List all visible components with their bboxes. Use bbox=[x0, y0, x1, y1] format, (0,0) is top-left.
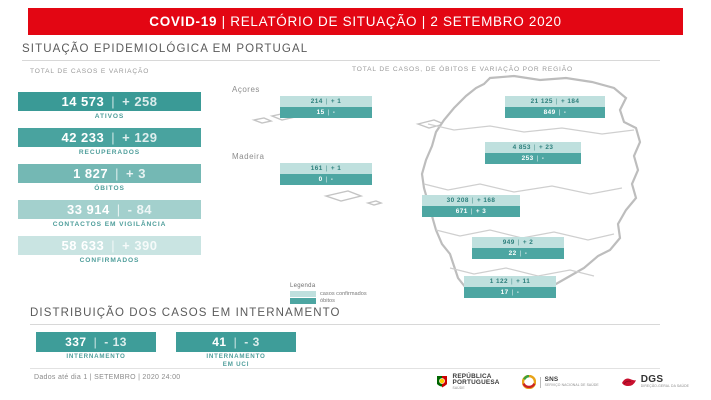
region-separator: | bbox=[517, 250, 525, 257]
region-box-centro: 4 853 | + 23 253 | - bbox=[485, 142, 581, 164]
stat-value-recuperados: 42 233 bbox=[61, 130, 104, 145]
region-cases-delta: + 168 bbox=[477, 197, 495, 204]
region-deaths-delta: + 3 bbox=[476, 208, 486, 215]
region-cases-value: 161 bbox=[311, 165, 323, 172]
region-cases-delta: + 1 bbox=[331, 165, 341, 172]
intern-label-line1: INTERNAMENTO bbox=[176, 353, 296, 361]
region-cases-norte: 21 125 | + 184 bbox=[505, 96, 605, 107]
republica-shield-icon bbox=[435, 375, 449, 389]
region-deaths-delta: - bbox=[331, 176, 334, 183]
region-cases-value: 214 bbox=[311, 98, 323, 105]
epidemiological-section-title: SITUAÇÃO EPIDEMIOLÓGICA EM PORTUGAL bbox=[22, 43, 308, 55]
region-deaths-delta: - bbox=[564, 109, 567, 116]
region-cases-delta: + 184 bbox=[561, 98, 579, 105]
region-deaths-value: 17 bbox=[501, 289, 509, 296]
region-deaths-acores: 15 | - bbox=[280, 107, 372, 118]
stat-separator: | bbox=[111, 238, 115, 253]
region-deaths-delta: - bbox=[333, 109, 336, 116]
region-box-acores: 214 | + 1 15 | - bbox=[280, 96, 372, 118]
legend-title: Legenda bbox=[290, 283, 367, 289]
internment-section-title: DISTRIBUIÇÃO DOS CASOS EM INTERNAMENTO bbox=[30, 307, 341, 319]
header-title: COVID-19 | RELATÓRIO DE SITUAÇÃO | 2 SET… bbox=[149, 14, 561, 29]
legend-swatch-cases-icon bbox=[290, 291, 316, 297]
intern-label-internamento: INTERNAMENTO bbox=[36, 353, 156, 361]
region-deaths-algarve: 17 | - bbox=[464, 287, 556, 298]
logo-republica-sub: SAÚDE bbox=[453, 387, 500, 390]
region-cases-value: 4 853 bbox=[513, 144, 531, 151]
region-cases-delta: + 11 bbox=[516, 278, 530, 285]
logo-sns: SNS SERVIÇO NACIONAL DE SAÚDE bbox=[522, 375, 599, 389]
region-separator: | bbox=[468, 208, 476, 215]
stat-separator: | bbox=[111, 94, 115, 109]
stat-value-ativos: 14 573 bbox=[61, 94, 104, 109]
intern-box-uci: 41 | - 3 bbox=[176, 332, 296, 352]
sns-divider bbox=[540, 377, 541, 388]
section-divider bbox=[30, 324, 660, 325]
header-separator-2: | bbox=[422, 14, 426, 29]
stat-label-recuperados: RECUPERADOS bbox=[18, 149, 201, 156]
report-label: RELATÓRIO DE SITUAÇÃO bbox=[230, 14, 417, 29]
region-deaths-centro: 253 | - bbox=[485, 153, 581, 164]
region-cases-acores: 214 | + 1 bbox=[280, 96, 372, 107]
region-deaths-madeira: 0 | - bbox=[280, 174, 372, 185]
region-deaths-value: 671 bbox=[456, 208, 468, 215]
region-cases-value: 30 208 bbox=[447, 197, 469, 204]
stat-box-contactos: 33 914 | - 84 bbox=[18, 200, 201, 219]
region-cases-lvt: 30 208 | + 168 bbox=[422, 195, 520, 206]
stat-box-obitos: 1 827 | + 3 bbox=[18, 164, 201, 183]
madeira-islands bbox=[326, 191, 381, 205]
stat-delta-ativos: + 258 bbox=[122, 94, 157, 109]
madeira-label: Madeira bbox=[232, 152, 264, 161]
stat-delta-confirmados: + 390 bbox=[122, 238, 157, 253]
region-separator: | bbox=[469, 197, 477, 204]
region-deaths-value: 253 bbox=[522, 155, 534, 162]
region-cases-algarve: 1 122 | + 11 bbox=[464, 276, 556, 287]
region-cases-madeira: 161 | + 1 bbox=[280, 163, 372, 174]
region-separator: | bbox=[508, 278, 516, 285]
region-cases-delta: + 1 bbox=[331, 98, 341, 105]
stat-label-obitos: ÓBITOS bbox=[18, 185, 201, 192]
region-box-algarve: 1 122 | + 11 17 | - bbox=[464, 276, 556, 298]
intern-box-internamento: 337 | - 13 bbox=[36, 332, 156, 352]
legend-row-cases: casos confirmados bbox=[290, 291, 367, 297]
region-deaths-delta: - bbox=[542, 155, 545, 162]
intern-label-uci: INTERNAMENTO EM UCI bbox=[176, 353, 296, 369]
region-deaths-norte: 849 | - bbox=[505, 107, 605, 118]
dgs-leaf-icon bbox=[621, 376, 637, 388]
legend-row-deaths: óbitos bbox=[290, 298, 367, 304]
region-separator: | bbox=[556, 109, 564, 116]
logo-dgs-sub: DIREÇÃO-GERAL DA SAÚDE bbox=[641, 385, 689, 388]
stat-value-obitos: 1 827 bbox=[73, 166, 108, 181]
stat-label-confirmados: CONFIRMADOS bbox=[18, 257, 201, 264]
intern-value-internamento: 337 bbox=[65, 335, 87, 349]
stat-separator: | bbox=[111, 130, 115, 145]
intern-separator: | bbox=[234, 335, 238, 349]
region-deaths-alentejo: 22 | - bbox=[472, 248, 564, 259]
header-separator-1: | bbox=[222, 14, 226, 29]
region-separator: | bbox=[323, 165, 331, 172]
report-date: 2 SETEMBRO 2020 bbox=[430, 14, 561, 29]
legend-label-deaths: óbitos bbox=[320, 298, 335, 304]
region-separator: | bbox=[323, 98, 331, 105]
logo-sns-sub: SERVIÇO NACIONAL DE SAÚDE bbox=[545, 384, 599, 387]
stat-delta-contactos: - 84 bbox=[128, 202, 152, 217]
region-cases-delta: + 23 bbox=[539, 144, 553, 151]
azores-label: Açores bbox=[232, 85, 260, 94]
portugal-map: Açores Madeira 214 | + 1 15 | - 161 | + … bbox=[222, 72, 692, 317]
region-cases-alentejo: 949 | + 2 bbox=[472, 237, 564, 248]
stat-delta-recuperados: + 129 bbox=[122, 130, 157, 145]
region-cases-value: 949 bbox=[503, 239, 515, 246]
intern-separator: | bbox=[94, 335, 98, 349]
footer-divider bbox=[30, 368, 660, 369]
header-banner: COVID-19 | RELATÓRIO DE SITUAÇÃO | 2 SET… bbox=[28, 8, 683, 35]
intern-delta-internamento: - 13 bbox=[104, 335, 127, 349]
region-box-alentejo: 949 | + 2 22 | - bbox=[472, 237, 564, 259]
intern-label-line1: INTERNAMENTO bbox=[36, 353, 156, 361]
region-cases-delta: + 2 bbox=[523, 239, 533, 246]
region-deaths-lvt: 671 | + 3 bbox=[422, 206, 520, 217]
stat-box-recuperados: 42 233 | + 129 bbox=[18, 128, 201, 147]
region-cases-value: 1 122 bbox=[490, 278, 508, 285]
stat-value-confirmados: 58 633 bbox=[61, 238, 104, 253]
map-legend: Legenda casos confirmados óbitos bbox=[290, 283, 367, 304]
left-column-caption: TOTAL DE CASOS E VARIAÇÃO bbox=[30, 68, 149, 75]
region-deaths-delta: - bbox=[517, 289, 520, 296]
stat-separator: | bbox=[115, 166, 119, 181]
footer-data-note: Dados até dia 1 | SETEMBRO | 2020 24:00 bbox=[34, 374, 180, 381]
intern-value-uci: 41 bbox=[212, 335, 226, 349]
region-deaths-value: 22 bbox=[509, 250, 517, 257]
region-deaths-delta: - bbox=[525, 250, 528, 257]
stat-value-contactos: 33 914 bbox=[67, 202, 110, 217]
region-separator: | bbox=[531, 144, 539, 151]
region-separator: | bbox=[534, 155, 542, 162]
stat-label-ativos: ATIVOS bbox=[18, 113, 201, 120]
region-separator: | bbox=[509, 289, 517, 296]
region-box-norte: 21 125 | + 184 849 | - bbox=[505, 96, 605, 118]
region-deaths-value: 849 bbox=[544, 109, 556, 116]
logo-republica-portuguesa: REPÚBLICA PORTUGUESA SAÚDE bbox=[435, 374, 500, 390]
region-cases-value: 21 125 bbox=[531, 98, 553, 105]
region-separator: | bbox=[323, 176, 331, 183]
sns-swirl-icon bbox=[522, 375, 536, 389]
footer-logos: REPÚBLICA PORTUGUESA SAÚDE SNS SERVIÇO N… bbox=[435, 374, 689, 390]
stat-box-confirmados: 58 633 | + 390 bbox=[18, 236, 201, 255]
intern-delta-uci: - 3 bbox=[244, 335, 260, 349]
stat-label-contactos: CONTACTOS EM VIGILÂNCIA bbox=[18, 221, 201, 228]
stat-box-ativos: 14 573 | + 258 bbox=[18, 92, 201, 111]
stat-delta-obitos: + 3 bbox=[126, 166, 146, 181]
region-separator: | bbox=[325, 109, 333, 116]
region-box-lvt: 30 208 | + 168 671 | + 3 bbox=[422, 195, 520, 217]
region-separator: | bbox=[553, 98, 561, 105]
region-separator: | bbox=[515, 239, 523, 246]
region-cases-centro: 4 853 | + 23 bbox=[485, 142, 581, 153]
stat-separator: | bbox=[117, 202, 121, 217]
covid-label: COVID-19 bbox=[149, 14, 217, 29]
legend-label-cases: casos confirmados bbox=[320, 291, 367, 297]
region-deaths-value: 15 bbox=[317, 109, 325, 116]
logo-dgs: DGS DIREÇÃO-GERAL DA SAÚDE bbox=[621, 375, 689, 388]
region-box-madeira: 161 | + 1 0 | - bbox=[280, 163, 372, 185]
section-divider bbox=[22, 60, 660, 61]
legend-swatch-deaths-icon bbox=[290, 298, 316, 304]
report-page: COVID-19 | RELATÓRIO DE SITUAÇÃO | 2 SET… bbox=[0, 0, 711, 400]
